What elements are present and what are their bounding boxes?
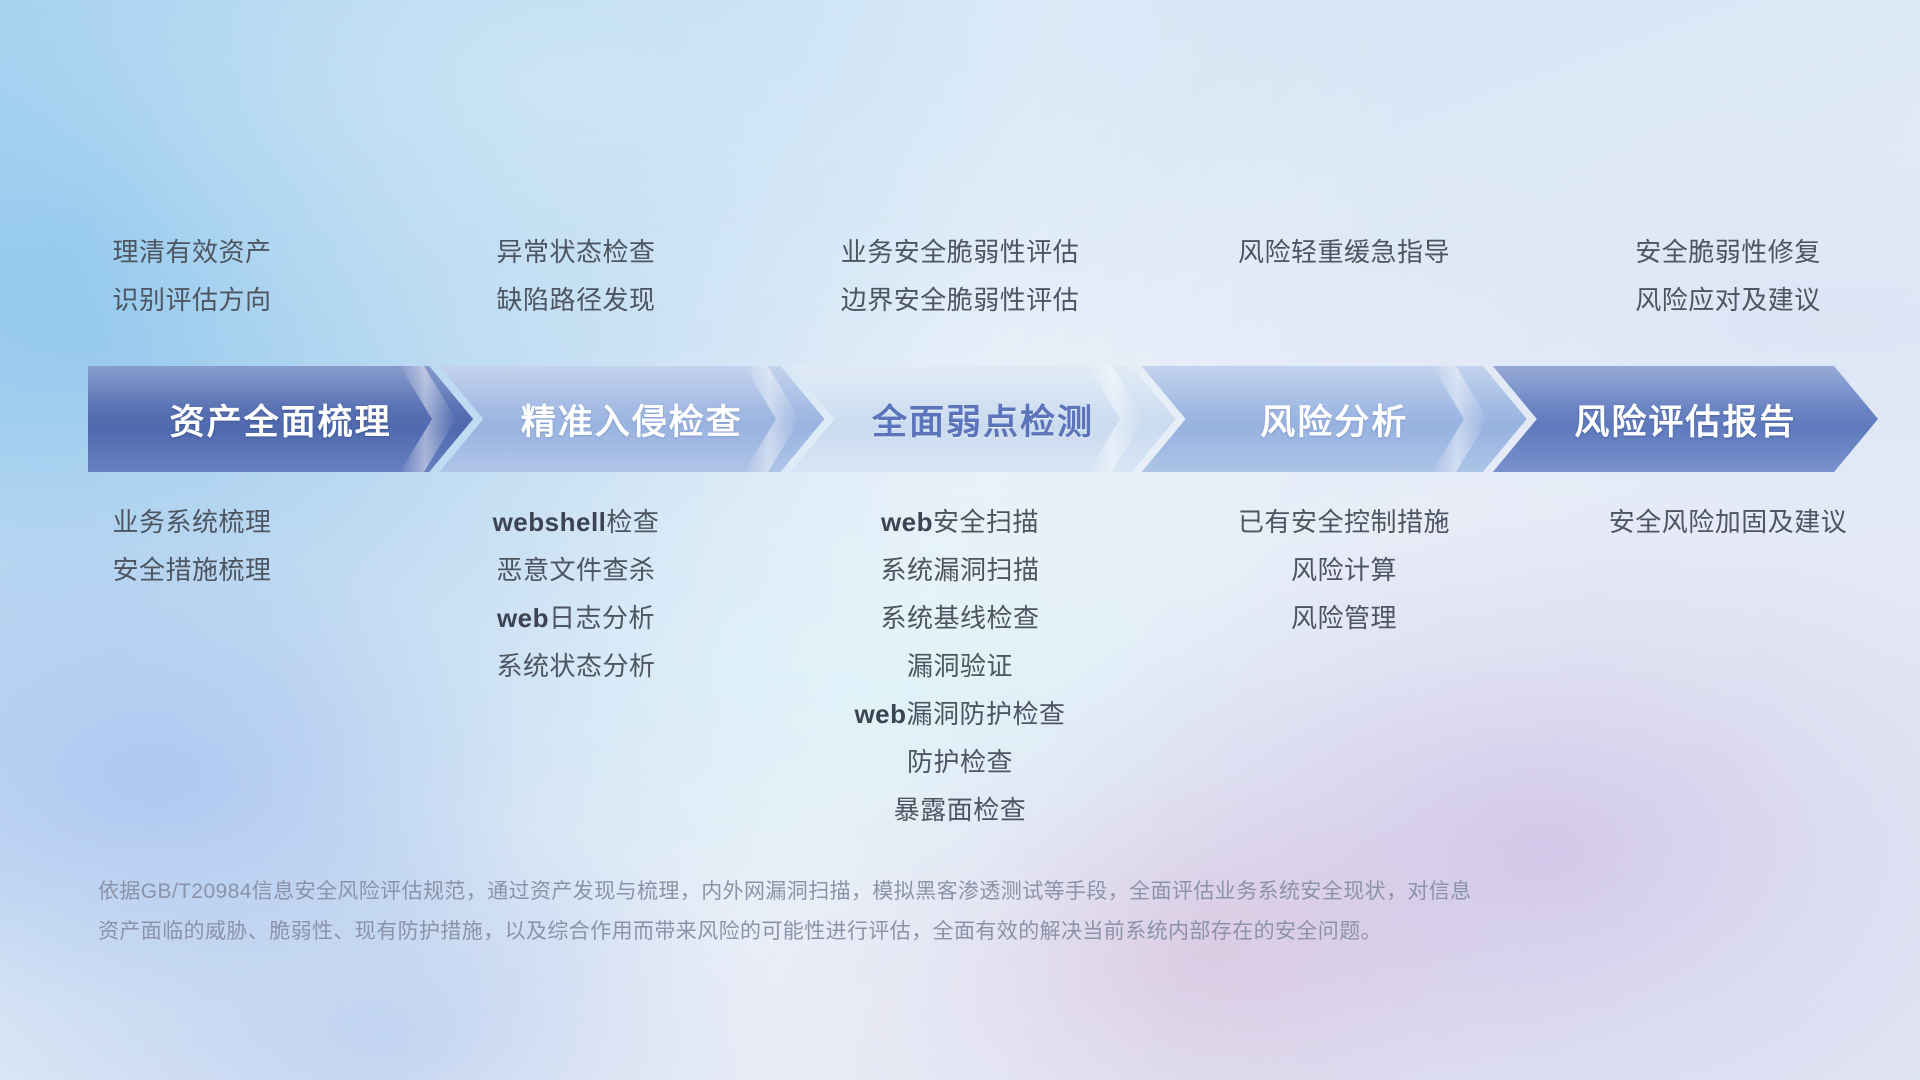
caption-cn: 日志分析 xyxy=(549,603,655,633)
caption-en: web xyxy=(854,699,906,729)
footer-description: 依据GB/T20984信息安全风险评估规范，通过资产发现与梳理，内外网漏洞扫描，… xyxy=(98,872,1778,952)
bottom-caption-item: 安全措施梳理 xyxy=(6,546,378,594)
caption-cn: 风险管理 xyxy=(1291,603,1397,633)
chevron-step-label: 精准入侵检查 xyxy=(521,394,743,445)
bottom-caption-item: 恶意文件查杀 xyxy=(390,546,762,594)
caption-en: web xyxy=(497,603,549,633)
bottom-captions-asset-inventory: 业务系统梳理 安全措施梳理 xyxy=(0,498,384,594)
slide-canvas: 理清有效资产 识别评估方向 异常状态检查 缺陷路径发现 业务安全脆弱性评估 边界… xyxy=(0,0,1920,1080)
caption-cn: 漏洞验证 xyxy=(907,651,1013,681)
top-caption-row: 理清有效资产 识别评估方向 异常状态检查 缺陷路径发现 业务安全脆弱性评估 边界… xyxy=(0,228,1920,324)
bottom-caption-item: web日志分析 xyxy=(390,594,762,642)
top-captions-weakness-detection: 业务安全脆弱性评估 边界安全脆弱性评估 xyxy=(768,228,1152,324)
top-captions-risk-analysis: 风险轻重缓急指导 xyxy=(1152,228,1536,324)
chevron-step-label: 风险分析 xyxy=(1260,394,1408,445)
top-caption-item: 理清有效资产 xyxy=(6,228,378,276)
footer-line-1: 依据GB/T20984信息安全风险评估规范，通过资产发现与梳理，内外网漏洞扫描，… xyxy=(98,872,1778,912)
top-caption-item: 风险应对及建议 xyxy=(1542,276,1914,324)
caption-cn: 系统状态分析 xyxy=(496,651,655,681)
top-caption-item: 异常状态检查 xyxy=(390,228,762,276)
chevron-step-risk-report[interactable]: 风险评估报告 xyxy=(1493,366,1878,472)
top-captions-asset-inventory: 理清有效资产 识别评估方向 xyxy=(0,228,384,324)
bottom-caption-item: 业务系统梳理 xyxy=(6,498,378,546)
caption-cn: 漏洞防护检查 xyxy=(907,699,1066,729)
chevron-step-label: 风险评估报告 xyxy=(1574,394,1796,445)
bottom-captions-intrusion-check: webshell检查 恶意文件查杀 web日志分析 系统状态分析 xyxy=(384,498,768,690)
bottom-caption-item: 风险管理 xyxy=(1158,594,1530,642)
bottom-captions-weakness-detection: web安全扫描 系统漏洞扫描 系统基线检查 漏洞验证 web漏洞防护检查 防护检… xyxy=(768,498,1152,834)
caption-cn: 安全扫描 xyxy=(933,507,1039,537)
caption-cn: 防护检查 xyxy=(907,747,1013,777)
bottom-caption-item: 已有安全控制措施 xyxy=(1158,498,1530,546)
top-captions-risk-report: 安全脆弱性修复 风险应对及建议 xyxy=(1536,228,1920,324)
caption-en: web xyxy=(881,507,933,537)
caption-cn: 系统漏洞扫描 xyxy=(880,555,1039,585)
bottom-caption-item: 漏洞验证 xyxy=(774,642,1146,690)
bottom-captions-risk-report: 安全风险加固及建议 xyxy=(1536,498,1920,546)
caption-cn: 业务系统梳理 xyxy=(112,507,271,537)
caption-cn: 安全措施梳理 xyxy=(112,555,271,585)
bottom-caption-item: 系统基线检查 xyxy=(774,594,1146,642)
bottom-caption-item: web安全扫描 xyxy=(774,498,1146,546)
process-chevron-band: 资产全面梳理 精准入侵检查 全面弱点检测 风险分析 风险评估报告 xyxy=(88,366,1844,472)
chevron-step-risk-analysis[interactable]: 风险分析 xyxy=(1142,366,1527,472)
caption-cn: 已有安全控制措施 xyxy=(1238,507,1450,537)
chevron-step-label: 资产全面梳理 xyxy=(170,394,392,445)
chevron-step-label: 全面弱点检测 xyxy=(872,394,1094,445)
caption-cn: 恶意文件查杀 xyxy=(496,555,655,585)
bottom-caption-item: 防护检查 xyxy=(774,738,1146,786)
bottom-caption-item: 安全风险加固及建议 xyxy=(1542,498,1914,546)
bottom-caption-item: webshell检查 xyxy=(390,498,762,546)
caption-en: webshell xyxy=(493,507,607,537)
caption-cn: 系统基线检查 xyxy=(880,603,1039,633)
chevron-step-weakness-detection[interactable]: 全面弱点检测 xyxy=(790,366,1175,472)
caption-cn: 暴露面检查 xyxy=(894,795,1027,825)
bottom-caption-row: 业务系统梳理 安全措施梳理 webshell检查 恶意文件查杀 web日志分析 … xyxy=(0,498,1920,834)
chevron-step-intrusion-check[interactable]: 精准入侵检查 xyxy=(439,366,824,472)
top-caption-item: 缺陷路径发现 xyxy=(390,276,762,324)
footer-line-2: 资产面临的威胁、脆弱性、现有防护措施，以及综合作用而带来风险的可能性进行评估，全… xyxy=(98,912,1778,952)
top-caption-item: 识别评估方向 xyxy=(6,276,378,324)
top-caption-item: 安全脆弱性修复 xyxy=(1542,228,1914,276)
chevron-step-asset-inventory[interactable]: 资产全面梳理 xyxy=(88,366,473,472)
top-caption-item: 业务安全脆弱性评估 xyxy=(774,228,1146,276)
caption-cn: 检查 xyxy=(606,507,659,537)
top-captions-intrusion-check: 异常状态检查 缺陷路径发现 xyxy=(384,228,768,324)
top-caption-item: 边界安全脆弱性评估 xyxy=(774,276,1146,324)
bottom-caption-item: 风险计算 xyxy=(1158,546,1530,594)
bottom-caption-item: 系统状态分析 xyxy=(390,642,762,690)
bottom-captions-risk-analysis: 已有安全控制措施 风险计算 风险管理 xyxy=(1152,498,1536,642)
caption-cn: 安全风险加固及建议 xyxy=(1609,507,1848,537)
caption-cn: 风险计算 xyxy=(1291,555,1397,585)
bottom-caption-item: 暴露面检查 xyxy=(774,786,1146,834)
bottom-caption-item: 系统漏洞扫描 xyxy=(774,546,1146,594)
top-caption-item: 风险轻重缓急指导 xyxy=(1158,228,1530,276)
bottom-caption-item: web漏洞防护检查 xyxy=(774,690,1146,738)
